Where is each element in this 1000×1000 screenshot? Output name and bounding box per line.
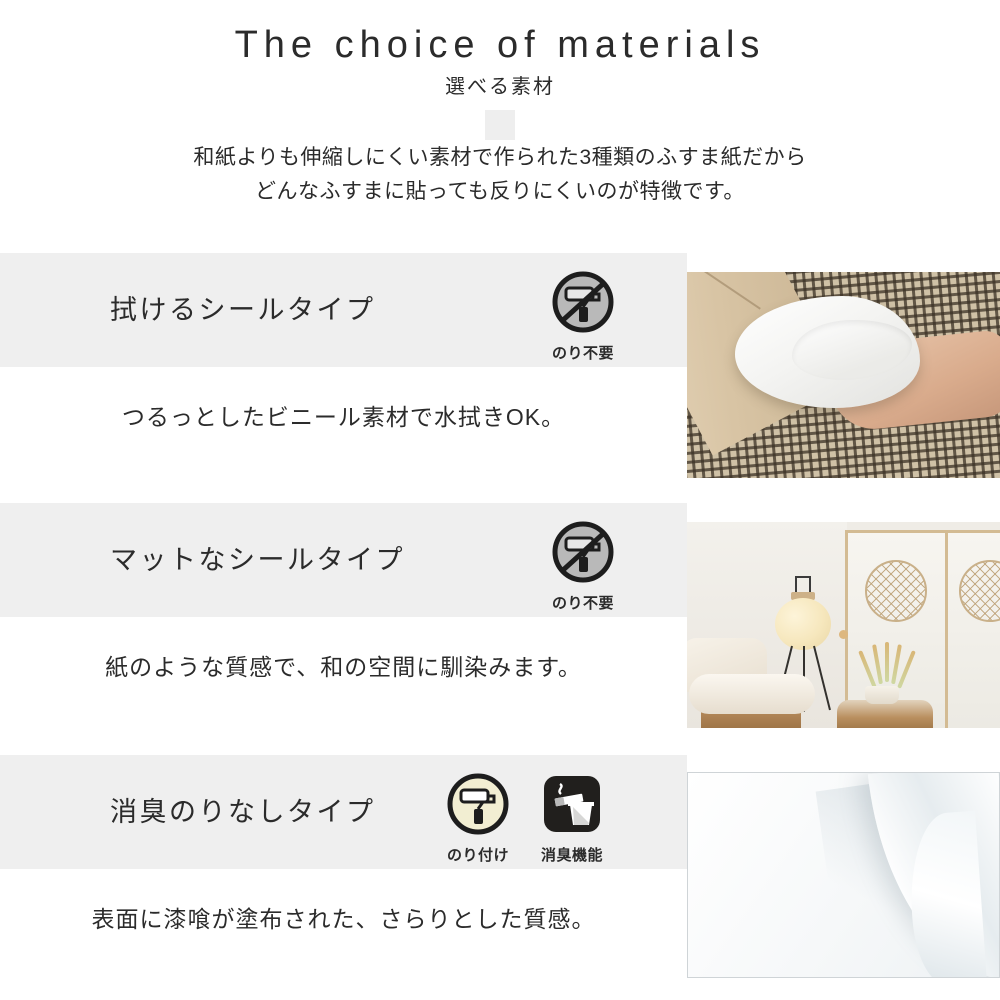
page-title-english: The choice of materials [0,24,1000,67]
badge-no-glue-label: のり不要 [545,342,621,363]
section-2-badges: のり不要 [545,519,621,613]
divider-square [485,110,515,140]
circular-lattice-1 [865,560,927,622]
section-3-badges: のり付け 消臭機能 [440,771,610,865]
paper-lantern-shade [775,598,831,650]
badge-no-glue: のり不要 [545,269,621,363]
page-header: The choice of materials 選べる素材 和紙よりも伸縮しにく… [0,0,1000,253]
dried-grass-3 [885,642,889,682]
page-title-japanese: 選べる素材 [0,70,1000,99]
floor-seam [687,272,761,310]
badge-deodorizing-label: 消臭機能 [534,844,610,865]
white-curling-paper-photo [687,772,1000,978]
lead-line-1: 和紙よりも伸縮しにくい素材で作られた3種類のふすま紙だから [0,141,1000,175]
section-3-title: 消臭のりなしタイプ [110,790,376,829]
wall-bead [839,630,848,639]
lead-paragraph: 和紙よりも伸縮しにくい素材で作られた3種類のふすま紙だから どんなふすまに貼って… [0,141,1000,209]
japanese-interior-room-photo [687,522,1000,728]
material-section-2: マットなシールタイプ のり不要 紙のような質感で、和の空間に馴染みます。 [0,503,1000,733]
badge-no-glue-label: のり不要 [545,592,621,613]
badge-glue-applied-label: のり付け [440,844,516,865]
no-glue-roller-icon [550,519,616,585]
badge-no-glue: のり不要 [545,519,621,613]
material-section-1: 拭けるシールタイプ のり不要 つるっとしたビニール素材で水拭きOK。 [0,253,1000,483]
section-3-caption: 表面に漆喰が塗布された、さらりとした質感。 [0,900,687,934]
badge-glue-applied: のり付け [440,771,516,865]
no-glue-roller-icon [550,269,616,335]
section-1-caption: つるっとしたビニール素材で水拭きOK。 [0,398,687,432]
material-section-3: 消臭のりなしタイプ のり付け [0,755,1000,1000]
wood-side-table [837,700,933,728]
plant-pot [865,686,899,704]
section-1-title: 拭けるシールタイプ [110,288,376,327]
deodorizing-icon [539,771,605,837]
towel-wiping-woven-mat-photo [687,272,1000,478]
section-2-caption: 紙のような質感で、和の空間に馴染みます。 [0,648,687,682]
section-2-title: マットなシールタイプ [110,538,405,577]
lead-line-2: どんなふすまに貼っても反りにくいのが特徴です。 [0,175,1000,209]
section-1-badges: のり不要 [545,269,621,363]
badge-deodorizing: 消臭機能 [534,771,610,865]
materials-infographic-page: The choice of materials 選べる素材 和紙よりも伸縮しにく… [0,0,1000,1000]
glue-roller-icon [445,771,511,837]
chair-seat [689,674,815,714]
